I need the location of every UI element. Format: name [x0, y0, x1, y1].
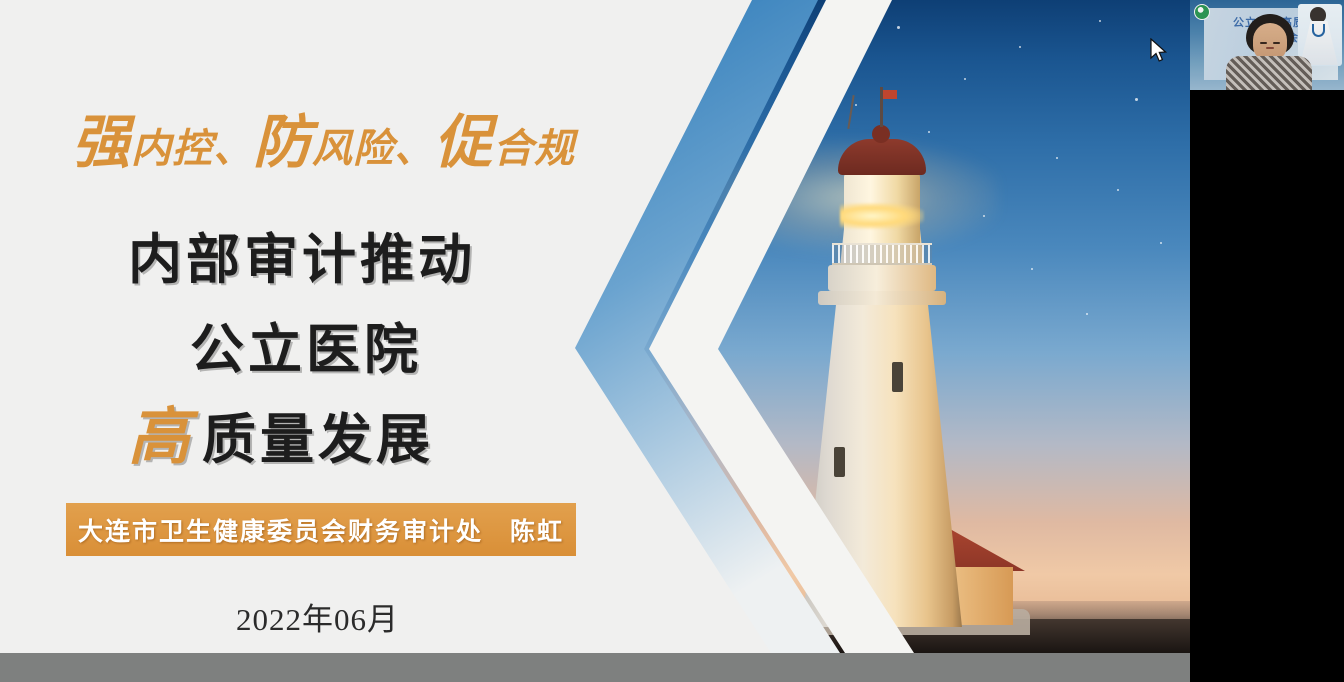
calligraphy-heading: 强内控、防风险、促合规 [72, 95, 612, 171]
calli-seg-6: 、 [394, 126, 434, 171]
calli-seg-3: 、 [213, 126, 253, 171]
dome-finial [872, 125, 890, 143]
lighthouse-dome [838, 139, 926, 175]
flag [883, 90, 897, 99]
screen: 强内控、防风险、促合规 内部审计推动 公立医院 高质量发展 大连市卫生健康委员会… [0, 0, 1344, 682]
calli-seg-4: 防 [253, 110, 312, 175]
presentation-slide[interactable]: 强内控、防风险、促合规 内部审计推动 公立医院 高质量发展 大连市卫生健康委员会… [0, 0, 1190, 682]
calli-seg-2: 内控 [131, 126, 213, 171]
tower-window [834, 447, 845, 477]
webcam-thumbnail[interactable]: 公立医院高质量 发展大会 [1190, 0, 1344, 90]
gallery-deck [828, 265, 936, 291]
slide-date: 2022年06月 [236, 594, 399, 639]
title-line-3-rest: 质量发展 [202, 410, 434, 470]
calli-seg-7: 促 [434, 110, 493, 175]
empty-black-area [1190, 90, 1344, 682]
slide-footer-bar [0, 653, 1190, 682]
lighthouse-photo [580, 0, 1190, 653]
mouse-cursor-icon [1150, 38, 1168, 64]
tower-window [892, 362, 903, 392]
title-highlight-char: 高 [128, 404, 194, 472]
presenter-banner: 大连市卫生健康委员会财务审计处 陈虹 [66, 503, 576, 556]
slide-title-line-2: 公立医院 [190, 305, 422, 384]
slide-title-line-3: 高质量发展 [128, 386, 434, 476]
webcam-overlay [1190, 0, 1344, 90]
antenna [847, 95, 854, 129]
presenter-text: 大连市卫生健康委员会财务审计处 陈虹 [78, 512, 564, 548]
slide-title-line-1: 内部审计推动 [128, 215, 476, 294]
gallery-railing [832, 243, 932, 265]
calli-seg-8: 合规 [493, 126, 575, 171]
lamp-light [840, 203, 924, 229]
lighthouse [788, 67, 978, 627]
calli-seg-1: 强 [72, 110, 131, 175]
tower-ring [818, 291, 946, 305]
calli-seg-5: 风险 [312, 126, 394, 171]
